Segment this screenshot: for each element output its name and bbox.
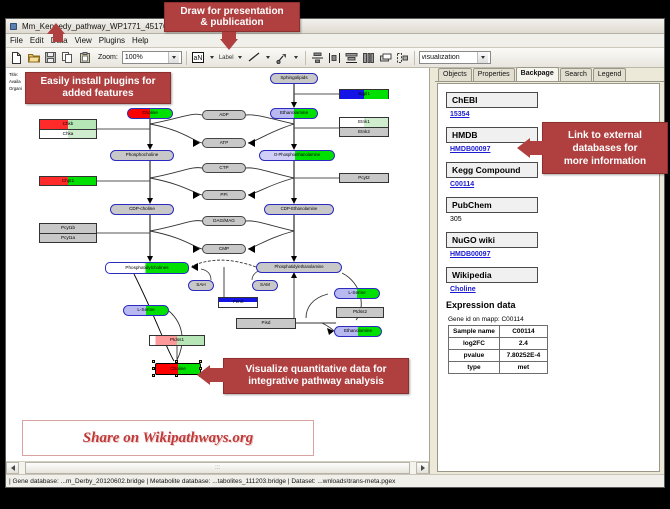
expression-data-title: Expression data <box>446 300 651 310</box>
table-cell-value: met <box>499 362 547 374</box>
stack-icon[interactable] <box>344 50 359 65</box>
toolbar: Zoom: 100% aN Label <box>6 48 664 68</box>
node-choline-selected[interactable]: Choline <box>155 363 201 375</box>
datanode-icon[interactable]: aN <box>191 50 206 65</box>
share-banner-text: Share on Wikipathways.org <box>83 430 253 447</box>
table-cell-key: pvalue <box>449 350 500 362</box>
node-ethanolamine-1[interactable]: Ethanolamine <box>270 108 318 119</box>
callout-visualize-text: Visualize quantitative data forintegrati… <box>246 364 387 388</box>
backpage-header-chebi: ChEBI <box>446 92 538 108</box>
selection-handle-s[interactable] <box>175 374 178 377</box>
order-icon[interactable] <box>378 50 393 65</box>
node-chkb[interactable]: Chkb <box>39 119 97 129</box>
zoom-combobox[interactable]: 100% <box>122 51 182 64</box>
interaction-icon[interactable] <box>275 50 290 65</box>
node-sphingolipids[interactable]: Sphingolipids <box>270 73 318 84</box>
interaction-dropdown[interactable] <box>292 50 301 65</box>
callout-external-links: Link to externaldatabases formore inform… <box>542 122 668 174</box>
table-row: Sample name C00114 <box>449 326 548 338</box>
visualization-value: visualization <box>422 54 477 61</box>
node-ethanolamine-2[interactable]: Ethanolamine <box>334 326 382 337</box>
callout-external-arrow-stem <box>530 141 544 155</box>
node-etnk2[interactable]: Etnk2 <box>339 127 389 137</box>
scroll-thumb[interactable]: ::: <box>25 462 410 474</box>
backpage-header-wikipedia: Wikipedia <box>446 267 538 283</box>
callout-draw-arrow-head <box>220 39 238 50</box>
node-l-serine-left[interactable]: L-Serine <box>123 305 169 316</box>
visualization-combobox[interactable]: visualization <box>419 51 491 64</box>
distribute-icon[interactable] <box>327 50 342 65</box>
node-chka[interactable]: Chka <box>39 129 97 139</box>
visualization-chevron-down-icon[interactable] <box>477 52 488 63</box>
status-text: | Gene database: ...m_Derby_20120602.bri… <box>9 478 395 485</box>
callout-visualize-data: Visualize quantitative data forintegrati… <box>223 358 409 394</box>
callout-external-arrow-head <box>517 138 530 158</box>
table-cell-key: log2FC <box>449 338 500 350</box>
share-banner: Share on Wikipathways.org <box>22 420 314 456</box>
line-dropdown[interactable] <box>264 50 273 65</box>
selection-handle-sw[interactable] <box>152 374 155 377</box>
selection-handle-ne[interactable] <box>199 360 202 363</box>
node-phosphocholine[interactable]: Phosphocholine <box>110 150 174 161</box>
scroll-track[interactable]: ::: <box>19 462 416 474</box>
table-cell-key: type <box>449 362 500 374</box>
table-cell-value: 7.80252E-4 <box>499 350 547 362</box>
node-cdp-ethanolamine[interactable]: CDP-Ethanolamine <box>264 204 334 215</box>
callout-plugins-text: Easily install plugins foradded features <box>40 76 155 100</box>
node-l-serine-right[interactable]: L-Serine <box>334 288 380 299</box>
backpage-header-pubchem: PubChem <box>446 197 538 213</box>
callout-visualize-arrow-stem <box>210 368 225 382</box>
node-sam[interactable]: SAM <box>252 280 278 291</box>
expression-data-table: Sample name C00114 log2FC 2.4 pvalue 7.8… <box>448 325 548 374</box>
node-etnk1[interactable]: Etnk1 <box>339 117 389 127</box>
table-cell-key: Sample name <box>449 326 500 338</box>
menu-item-view[interactable]: View <box>75 36 92 45</box>
toolbar-divider-2 <box>305 51 306 65</box>
node-adp[interactable]: ADP <box>202 110 246 120</box>
menu-item-help[interactable]: Help <box>132 36 148 45</box>
side-panel-tabs: Objects Properties Backpage Search Legen… <box>435 68 664 82</box>
callout-external-text: Link to externaldatabases formore inform… <box>564 129 646 168</box>
node-chpt1[interactable]: Chpt1 <box>39 176 97 186</box>
gene-id-note: Gene id on mapp: C00114 <box>448 316 651 323</box>
node-dagmag[interactable]: DAG/MAG <box>202 216 246 226</box>
plugins-callout-arrow-stem <box>53 32 63 42</box>
label-dropdown[interactable] <box>236 50 245 65</box>
zoom-label: Zoom: <box>98 54 118 61</box>
node-choline-top[interactable]: Choline <box>127 108 173 119</box>
table-cell-value: 2.4 <box>499 338 547 350</box>
backpage-link-chebi[interactable]: 15354 <box>450 111 651 118</box>
menu-bar: File Edit Data View Plugins Help <box>6 34 664 48</box>
datanode-dropdown[interactable] <box>208 50 217 65</box>
tab-search[interactable]: Search <box>560 68 592 81</box>
node-pcyt2[interactable]: Pcyt2 <box>339 173 389 183</box>
callout-visualize-arrow-head <box>197 365 210 385</box>
backpage-header-kegg: Kegg Compound <box>446 162 538 178</box>
menu-item-plugins[interactable]: Plugins <box>99 36 125 45</box>
node-sgpl1[interactable]: Sgpl1 <box>339 89 389 99</box>
node-ptdss2[interactable]: Ptdss2 <box>336 307 384 318</box>
app-icon <box>9 22 18 31</box>
scroll-left-button[interactable] <box>6 462 19 474</box>
label-tool-label[interactable]: Label <box>219 55 234 61</box>
node-atp[interactable]: ATP <box>202 138 246 148</box>
new-file-icon[interactable] <box>9 50 24 65</box>
status-bar: | Gene database: ...m_Derby_20120602.bri… <box>6 474 664 487</box>
node-cmp[interactable]: CMP <box>202 244 246 254</box>
backpage-link-nugo[interactable]: HMDB00097 <box>450 251 651 258</box>
selection-handle-n[interactable] <box>175 360 178 363</box>
pathway-editor: Title: Availa Organi <box>6 68 430 474</box>
table-row: pvalue 7.80252E-4 <box>449 350 548 362</box>
canvas-hscrollbar[interactable]: ::: <box>6 461 429 474</box>
backpage-header-nugo: NuGO wiki <box>446 232 538 248</box>
copy-icon[interactable] <box>60 50 75 65</box>
menu-item-file[interactable]: File <box>10 36 23 45</box>
backpage-link-kegg[interactable]: C00114 <box>450 181 651 188</box>
pathway-canvas[interactable]: Title: Availa Organi <box>6 68 429 461</box>
node-cdp-choline[interactable]: CDP-choline <box>110 204 174 215</box>
tab-objects[interactable]: Objects <box>438 68 472 81</box>
callout-draw-for-publication: Draw for presentation& publication <box>164 2 300 32</box>
tab-backpage[interactable]: Backpage <box>516 67 559 81</box>
backpage-link-wikipedia[interactable]: Choline <box>450 286 651 293</box>
selection-handle-nw[interactable] <box>152 360 155 363</box>
align-icon[interactable] <box>310 50 325 65</box>
node-ptdss1[interactable]: Ptdss1 <box>149 335 205 346</box>
node-ctp[interactable]: CTP <box>202 163 246 173</box>
title-bar: Mm_Kennedy_pathway_WP1771_45176.gpml <box>6 19 664 34</box>
size-icon[interactable] <box>361 50 376 65</box>
tab-legend[interactable]: Legend <box>593 68 626 81</box>
node-pisd[interactable]: Pisd <box>236 318 296 329</box>
callout-draw-text: Draw for presentation& publication <box>180 6 283 28</box>
group-icon[interactable] <box>395 50 410 65</box>
table-cell-value: C00114 <box>499 326 547 338</box>
line-icon[interactable] <box>247 50 262 65</box>
scroll-right-button[interactable] <box>416 462 429 474</box>
node-phosphatidylcholines[interactable]: Phosphatidylcholines <box>105 262 189 274</box>
node-sah[interactable]: SAH <box>188 280 214 291</box>
callout-install-plugins: Easily install plugins foradded features <box>25 72 171 104</box>
selection-handle-w[interactable] <box>152 367 155 370</box>
menu-item-edit[interactable]: Edit <box>30 36 44 45</box>
tab-properties[interactable]: Properties <box>473 68 515 81</box>
paste-icon[interactable] <box>77 50 92 65</box>
save-file-icon[interactable] <box>43 50 58 65</box>
backpage-value-pubchem: 305 <box>450 216 651 223</box>
svg-text:aN: aN <box>194 55 203 62</box>
table-row: log2FC 2.4 <box>449 338 548 350</box>
node-pcyt1a[interactable]: Pcyt1a <box>39 233 97 243</box>
node-ppi[interactable]: PPi <box>202 190 246 200</box>
toolbar-divider <box>186 51 187 65</box>
table-row: type met <box>449 362 548 374</box>
toolbar-divider-3 <box>414 51 415 65</box>
node-pcyt1b[interactable]: Pcyt1b <box>39 223 97 233</box>
node-phosphatidylethanolamine[interactable]: Phosphatidylethanolamine <box>256 262 342 273</box>
open-file-icon[interactable] <box>26 50 41 65</box>
chevron-down-icon[interactable] <box>168 52 179 63</box>
zoom-value: 100% <box>125 54 168 61</box>
node-pemt[interactable]: Pemt <box>218 297 258 308</box>
node-o-phosphoethanolamine[interactable]: O-Phosphoethanolamine <box>259 150 335 161</box>
